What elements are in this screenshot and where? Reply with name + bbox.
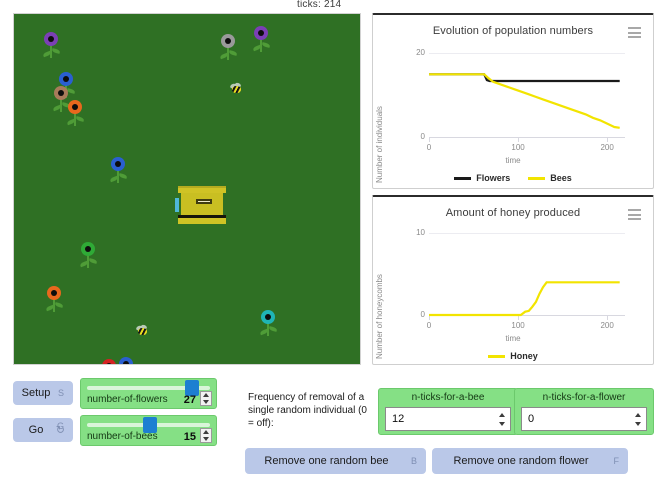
bee-agent xyxy=(136,326,149,337)
hamburger-menu-icon[interactable] xyxy=(628,209,641,220)
chart-legend: FlowersBees xyxy=(373,173,653,183)
hamburger-menu-icon[interactable] xyxy=(628,27,641,38)
remove-one-random-bee-button[interactable]: Remove one random bee B xyxy=(245,448,426,474)
x-tick-label: 100 xyxy=(503,143,533,152)
legend-label: Honey xyxy=(510,351,538,361)
chart-honey-title: Amount of honey produced xyxy=(373,197,653,219)
x-tick-label: 0 xyxy=(414,143,444,152)
x-tick-label: 100 xyxy=(503,321,533,330)
legend-swatch xyxy=(488,355,505,358)
flower-agent xyxy=(257,310,279,336)
slider-value: 15 xyxy=(184,431,196,443)
flower-agent xyxy=(43,286,65,312)
remove-bee-shortcut: B xyxy=(411,456,417,466)
chart-population: Evolution of population numbers Number o… xyxy=(372,13,654,189)
input-value: 0 xyxy=(522,413,534,425)
remove-flower-label: Remove one random flower xyxy=(453,455,588,467)
legend-swatch xyxy=(528,177,545,180)
frequency-description: Frequency of removal of a single random … xyxy=(248,391,373,430)
flower-agent xyxy=(250,26,272,52)
slider-stepper[interactable] xyxy=(200,391,212,406)
flower-agent xyxy=(107,157,129,183)
chart-honey: Amount of honey produced Number of honey… xyxy=(372,195,654,365)
input-stepper[interactable] xyxy=(496,411,507,428)
input-n-ticks-for-a-bee[interactable]: n-ticks-for-a-bee 12 xyxy=(378,388,518,435)
legend-label: Flowers xyxy=(476,173,510,183)
legend-label: Bees xyxy=(550,173,572,183)
input-stepper[interactable] xyxy=(632,411,643,428)
legend-item: Flowers xyxy=(454,173,510,183)
chart-population-title: Evolution of population numbers xyxy=(373,15,653,37)
slider-number-of-flowers[interactable]: number-of-flowers 27 xyxy=(80,378,217,409)
x-tick-label: 0 xyxy=(414,321,444,330)
ticks-counter: ticks: 214 xyxy=(297,0,341,10)
input-n-ticks-for-a-flower[interactable]: n-ticks-for-a-flower 0 xyxy=(514,388,654,435)
go-button-label: Go xyxy=(29,424,44,436)
slider-number-of-bees[interactable]: number-of-bees 15 xyxy=(80,415,217,446)
beehive xyxy=(178,186,226,224)
setup-shortcut: S xyxy=(58,388,64,398)
chart-honey-plot: Number of honeycombs0100100200timeHoney xyxy=(373,225,653,367)
slider-value: 27 xyxy=(184,394,196,406)
input-value: 12 xyxy=(386,413,404,425)
remove-one-random-flower-button[interactable]: Remove one random flower F xyxy=(432,448,628,474)
flower-agent xyxy=(64,100,86,126)
world-view[interactable] xyxy=(13,13,361,365)
input-label: n-ticks-for-a-flower xyxy=(515,392,653,403)
input-field[interactable]: 0 xyxy=(521,407,647,431)
flower-agent xyxy=(40,32,62,58)
slider-label: number-of-flowers xyxy=(87,394,168,405)
slider-label: number-of-bees xyxy=(87,431,158,442)
remove-bee-label: Remove one random bee xyxy=(264,455,388,467)
legend-swatch xyxy=(454,177,471,180)
bee-agent xyxy=(230,84,243,95)
x-tick-label: 200 xyxy=(592,321,622,330)
world-canvas[interactable] xyxy=(14,14,360,364)
flower-agent xyxy=(115,357,137,365)
legend-item: Bees xyxy=(528,173,572,183)
x-axis-label: time xyxy=(373,334,653,343)
remove-flower-shortcut: F xyxy=(614,456,620,466)
x-axis-label: time xyxy=(373,156,653,165)
slider-stepper[interactable] xyxy=(200,428,212,443)
x-tick-label: 200 xyxy=(592,143,622,152)
go-shortcut: G xyxy=(57,421,64,431)
setup-button-label: Setup xyxy=(22,387,51,399)
legend-item: Honey xyxy=(488,351,538,361)
go-button[interactable]: Go ↻ G xyxy=(13,418,73,442)
setup-button[interactable]: Setup S xyxy=(13,381,73,405)
flower-agent xyxy=(77,242,99,268)
chart-population-plot: Number of individuals0200100200timeFlowe… xyxy=(373,45,653,189)
chart-legend: Honey xyxy=(373,351,653,361)
flower-agent xyxy=(217,34,239,60)
input-field[interactable]: 12 xyxy=(385,407,511,431)
input-label: n-ticks-for-a-bee xyxy=(379,392,517,403)
